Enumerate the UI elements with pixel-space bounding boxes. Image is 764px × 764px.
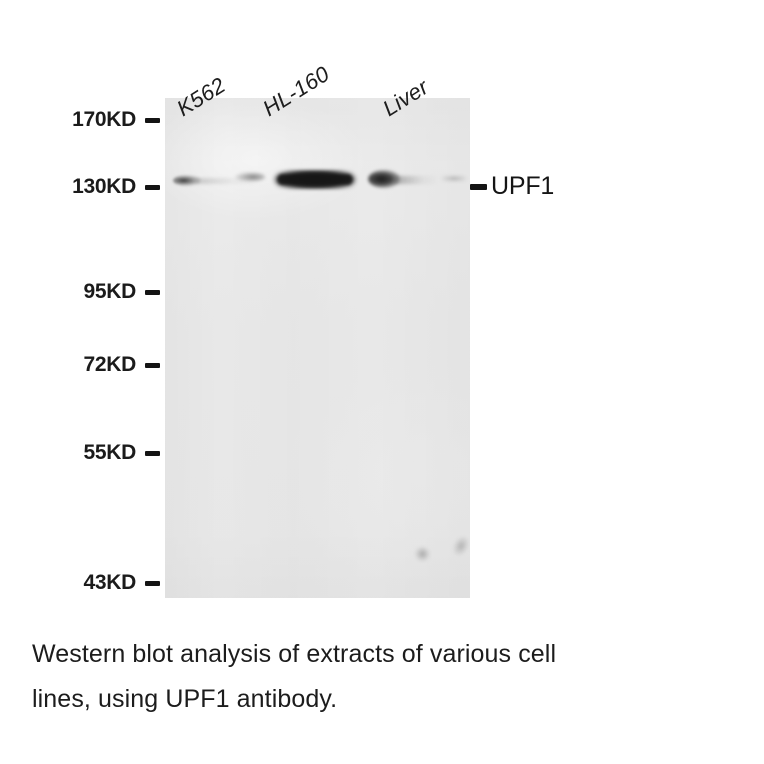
figure-caption: Western blot analysis of extracts of var… [32, 632, 744, 722]
mw-marker-label: 43KD [84, 571, 137, 595]
mw-marker-label: 72KD [84, 353, 137, 377]
target-protein-label: UPF1 [491, 172, 554, 201]
band-k562-smear [195, 178, 257, 184]
mw-marker-130: 130KD [45, 175, 160, 199]
mw-marker-label: 95KD [84, 280, 137, 304]
mw-marker-170: 170KD [45, 108, 160, 132]
mw-marker-55: 55KD [45, 441, 160, 465]
band-k562-secondary [235, 172, 265, 182]
western-blot-figure: 170KD 130KD 95KD 72KD 55KD 43KD K562 HL-… [0, 0, 764, 764]
mw-marker-label: 170KD [72, 108, 136, 132]
blot-membrane [165, 98, 470, 598]
band-hl160 [273, 170, 357, 189]
band-liver [368, 170, 400, 188]
mw-marker-43: 43KD [45, 571, 160, 595]
mw-marker-dash-icon [145, 118, 160, 123]
mw-marker-dash-icon [145, 185, 160, 190]
mw-marker-label: 55KD [84, 441, 137, 465]
mw-marker-72: 72KD [45, 353, 160, 377]
band-hl160-core [277, 174, 353, 185]
band-liver-smear [393, 176, 439, 184]
mw-marker-dash-icon [145, 581, 160, 586]
band-edge-faint [441, 175, 467, 182]
artifact-speck-left [415, 547, 430, 561]
caption-line-1: Western blot analysis of extracts of var… [32, 632, 744, 677]
target-dash-icon [470, 184, 487, 190]
band-k562 [173, 175, 201, 186]
mw-marker-dash-icon [145, 363, 160, 368]
mw-marker-dash-icon [145, 451, 160, 456]
target-protein-callout: UPF1 [470, 172, 554, 201]
caption-line-2: lines, using UPF1 antibody. [32, 677, 744, 722]
mw-marker-95: 95KD [45, 280, 160, 304]
mw-marker-label: 130KD [72, 175, 136, 199]
mw-marker-dash-icon [145, 290, 160, 295]
artifact-speck-right [450, 534, 470, 558]
